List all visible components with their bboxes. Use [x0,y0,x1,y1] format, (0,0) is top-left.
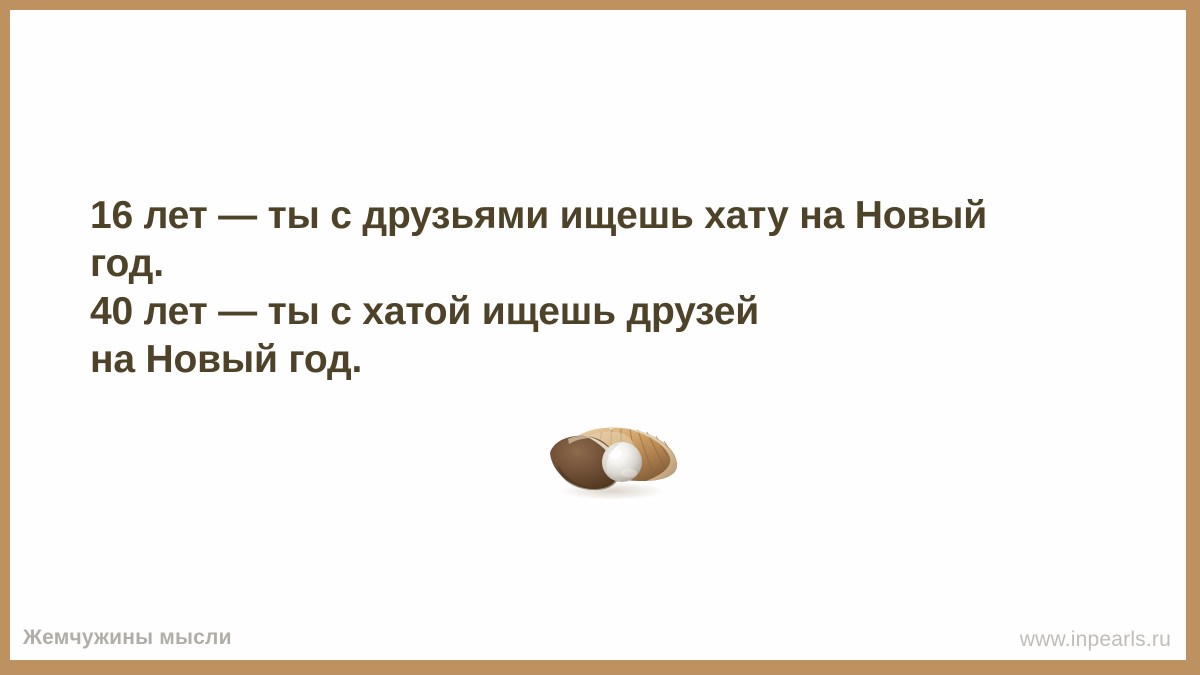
quote-line: 40 лет — ты с хатой ищешь друзей [90,288,1150,336]
quote-text-block: 16 лет — ты с друзьями ищешь хату на Нов… [90,192,1150,384]
oyster-shell-with-pearl-icon [538,415,686,505]
quote-card: 16 лет — ты с друзьями ищешь хату на Нов… [0,0,1200,675]
quote-line: 16 лет — ты с друзьями ищешь хату на Нов… [90,192,1150,240]
brand-label: Жемчужины мысли [23,626,232,650]
quote-line: год. [90,240,1150,288]
card-canvas: 16 лет — ты с друзьями ищешь хату на Нов… [10,10,1186,660]
quote-line: на Новый год. [90,336,1150,384]
website-url[interactable]: www.inpearls.ru [1020,628,1171,652]
